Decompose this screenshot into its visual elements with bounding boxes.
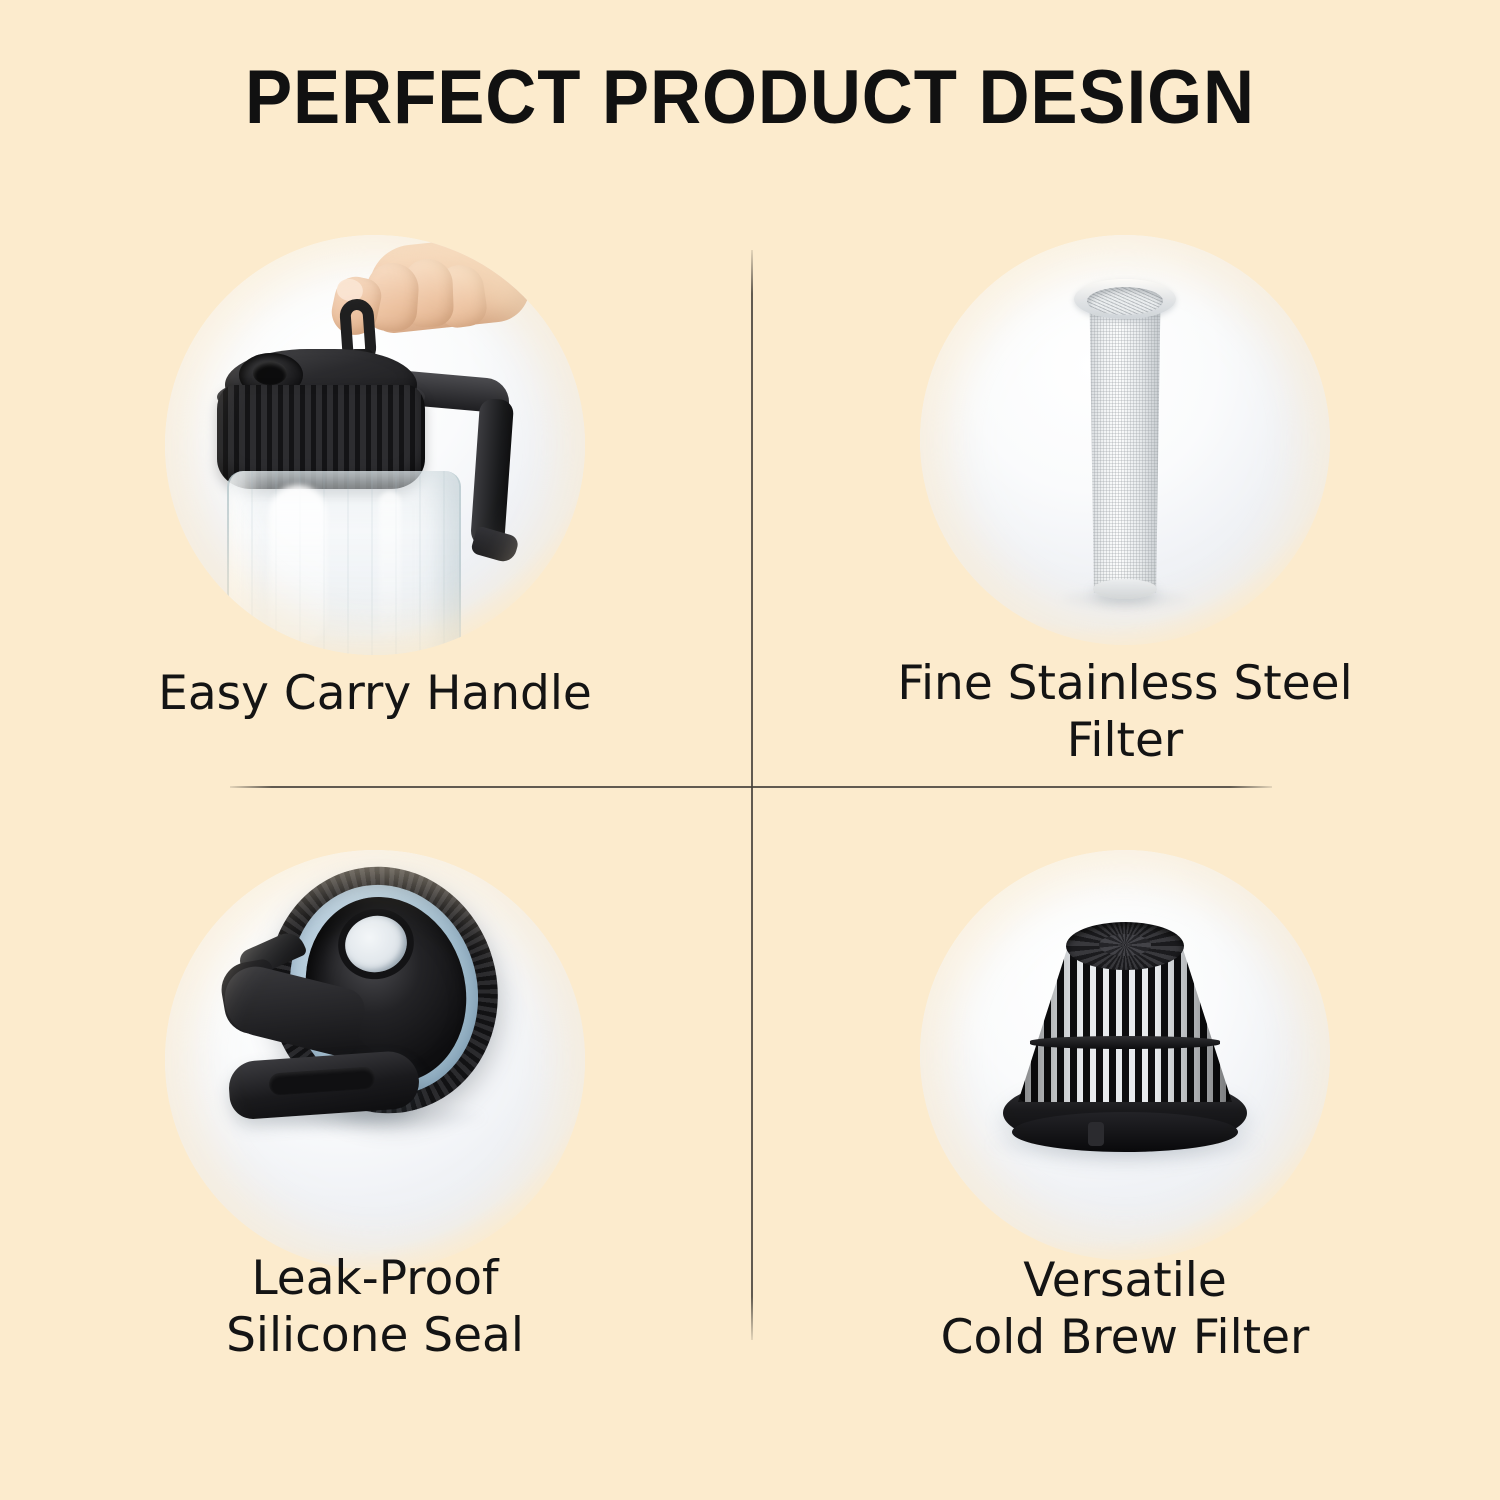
lid-center-hole [339, 909, 413, 978]
lid-top [225, 349, 417, 421]
feature-card-versatile-cold-brew-filter: Versatile Cold Brew Filter [750, 850, 1500, 1395]
caption-line-1: Easy Carry Handle [0, 665, 750, 722]
feature-caption-easy-carry-handle: Easy Carry Handle [0, 665, 750, 722]
pour-spout [239, 353, 303, 397]
product-feature-poster: PERFECT PRODUCT DESIGN [0, 0, 1500, 1500]
feature-card-leak-proof-silicone-seal: Leak-Proof Silicone Seal [0, 850, 750, 1395]
handle-foot [227, 1049, 421, 1120]
feature-caption-versatile-cold-brew-filter: Versatile Cold Brew Filter [750, 1252, 1500, 1367]
feature-card-easy-carry-handle: Easy Carry Handle [0, 235, 750, 780]
photo-disc [920, 850, 1330, 1260]
handle-loop [217, 958, 283, 1038]
basket-clip [1088, 1122, 1104, 1146]
basket-mid-band [1030, 1036, 1220, 1049]
basket-mesh-top-center [1099, 934, 1151, 956]
photo-easy-carry-handle [165, 235, 585, 655]
basket-mesh-top [1066, 922, 1184, 970]
basket-flange-lip [1012, 1112, 1238, 1152]
pour-spout-hole [253, 361, 287, 385]
mesh-filter-base [1093, 579, 1157, 599]
photo-disc [920, 235, 1330, 645]
caption-line-1: Versatile [750, 1252, 1500, 1309]
lid-inner-cone [284, 878, 488, 1102]
feature-caption-fine-stainless-steel-filter: Fine Stainless Steel Filter [750, 655, 1500, 770]
photo-stainless-steel-filter [920, 235, 1330, 645]
caption-line-1: Leak-Proof [0, 1250, 750, 1307]
basket-slatted-dome [1018, 942, 1232, 1102]
ribbed-cap-ring [239, 850, 527, 1141]
lid-ribbed-band [217, 385, 425, 489]
pitcher-side-handle [397, 375, 513, 557]
caption-line-2: Cold Brew Filter [750, 1309, 1500, 1366]
silicone-seal-ring [265, 862, 502, 1117]
lid-latch-tab [236, 928, 308, 980]
mesh-filter-lip-inner [1087, 287, 1163, 315]
feature-card-fine-stainless-steel-filter: Fine Stainless Steel Filter [750, 235, 1500, 780]
handle-arm [217, 960, 369, 1060]
lid-cap [217, 377, 425, 417]
photo-silicone-seal [165, 850, 585, 1270]
basket-dome-shading [1018, 942, 1232, 1102]
caption-line-2: Filter [750, 712, 1500, 769]
glass-jar-body [227, 471, 461, 655]
feature-caption-leak-proof-silicone-seal: Leak-Proof Silicone Seal [0, 1250, 750, 1365]
caption-line-2: Silicone Seal [0, 1307, 750, 1364]
mesh-filter-lip [1074, 279, 1176, 319]
carry-loop-stem [349, 349, 373, 397]
page-title: PERFECT PRODUCT DESIGN [53, 54, 1448, 141]
filter-shadow [1055, 587, 1195, 611]
carry-loop-icon [339, 298, 378, 366]
basket-flange [1003, 1076, 1247, 1150]
mesh-filter-body [1088, 297, 1162, 593]
lid-shadow [237, 1100, 487, 1134]
caption-line-1: Fine Stainless Steel [750, 655, 1500, 712]
photo-cold-brew-filter [920, 850, 1330, 1260]
photo-disc [165, 235, 585, 655]
handle-foot-notch [268, 1066, 375, 1095]
basket-shadow [985, 1128, 1265, 1162]
hand-icon [311, 241, 529, 351]
photo-disc [165, 850, 585, 1270]
